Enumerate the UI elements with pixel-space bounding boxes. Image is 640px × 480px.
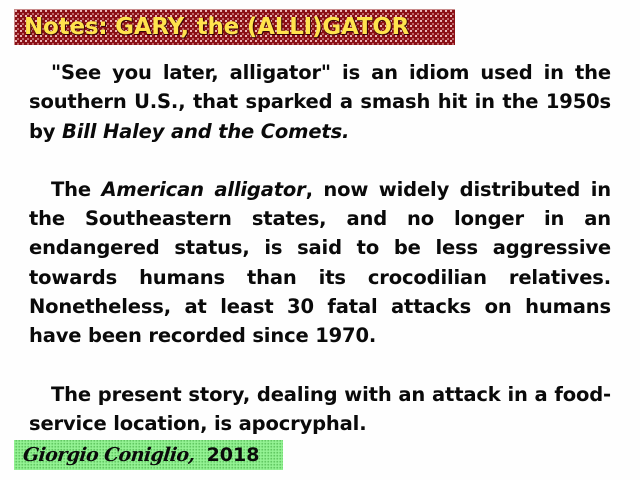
copyright-year: 2018 <box>207 446 260 465</box>
paragraph-idiom: "See you later, alligator" is an idiom u… <box>29 58 611 146</box>
title-banner: Notes: GARY, the (ALLI)GATOR <box>14 9 455 45</box>
paragraph-apocryphal: The present story, dealing with an attac… <box>29 380 611 439</box>
author-name: Giorgio Coniglio, <box>22 446 196 465</box>
signature-banner: Giorgio Coniglio, 2018 <box>14 440 283 470</box>
paragraph-alligator-facts: The American alligator, now widely distr… <box>29 175 611 351</box>
page-title: Notes: GARY, the (ALLI)GATOR <box>24 16 409 39</box>
notes-body: "See you later, alligator" is an idiom u… <box>29 58 611 438</box>
slide-canvas: Notes: GARY, the (ALLI)GATOR "See you la… <box>0 0 640 480</box>
